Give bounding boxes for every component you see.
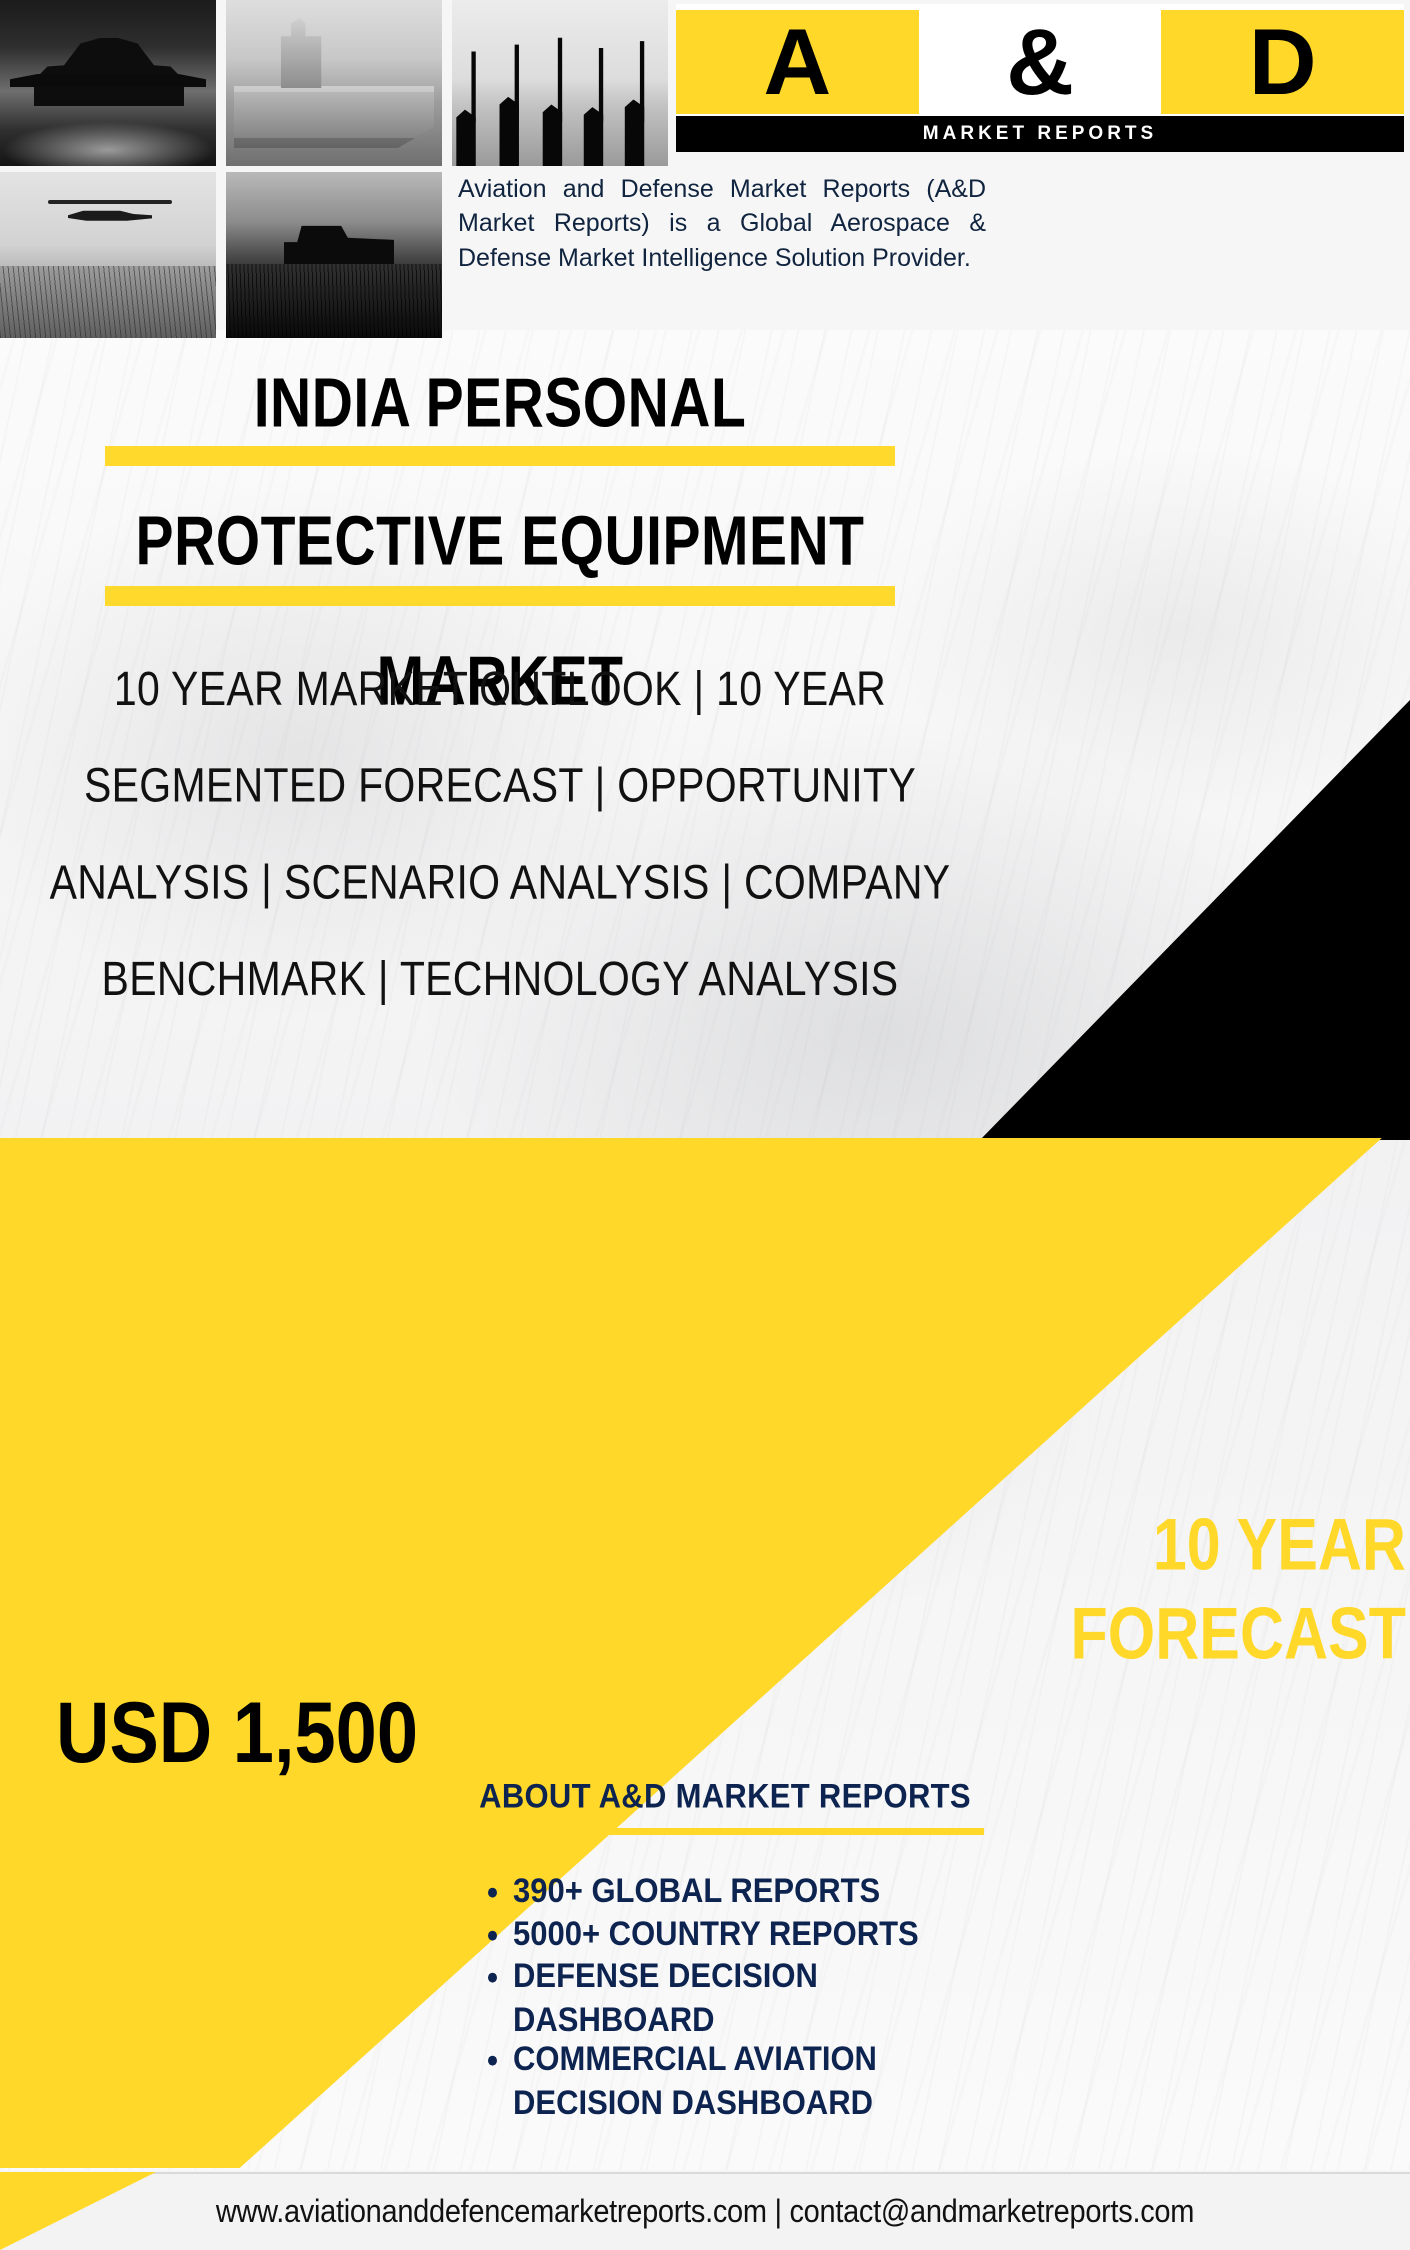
soldiers-silhouette-photo (452, 0, 668, 166)
field-foreground (0, 266, 216, 338)
logo-tagline-bar: MARKET REPORTS (676, 116, 1404, 152)
about-bullet-country-reports: 5000+ COUNTRY REPORTS (513, 1912, 995, 1956)
logo-letter-d: D (1161, 10, 1404, 114)
intro-paragraph: Aviation and Defense Market Reports (A&D… (458, 172, 986, 275)
report-scope-description: 10 YEAR MARKET OUTLOOK | 10 YEAR SEGMENT… (14, 640, 986, 1027)
about-bullet-commercial-dashboard: COMMERCIAL AVIATION DECISION DASHBOARD (513, 2037, 995, 2124)
footer-contact-text: www.aviationanddefencemarketreports.com … (216, 2194, 1194, 2231)
company-logo: A & D MARKET REPORTS (676, 4, 1404, 152)
forecast-badge-line-1: 10 YEAR (766, 1500, 1406, 1589)
helicopter-photo (0, 172, 216, 338)
title-line-2: PROTECTIVE EQUIPMENT (0, 506, 1000, 577)
logo-letter-a: A (676, 10, 919, 114)
about-bullet-defense-dashboard: DEFENSE DECISION DASHBOARD (513, 1954, 995, 2041)
price-label: USD 1,500 (56, 1690, 418, 1776)
title-rule-1 (105, 446, 895, 466)
forecast-badge-line-2: FORECAST (766, 1589, 1406, 1678)
fighter-jet-photo (0, 0, 216, 166)
about-heading: ABOUT A&D MARKET REPORTS (455, 1776, 995, 1816)
title-rule-2 (105, 586, 895, 606)
title-line-1: INDIA PERSONAL (0, 368, 1000, 439)
aircraft-carrier-photo (226, 0, 442, 166)
armored-vehicle-photo (226, 172, 442, 338)
about-underline (466, 1828, 984, 1835)
report-brochure-poster: A & D MARKET REPORTS Aviation and Defens… (0, 0, 1410, 2250)
logo-letter-ampersand: & (919, 10, 1162, 114)
about-section: ABOUT A&D MARKET REPORTS 390+ GLOBAL REP… (455, 1776, 995, 2119)
logo-letters: A & D (676, 10, 1404, 114)
forecast-badge: 10 YEAR FORECAST (766, 1500, 1406, 1679)
about-bullet-global-reports: 390+ GLOBAL REPORTS (513, 1869, 995, 1913)
about-bullet-list: 390+ GLOBAL REPORTS 5000+ COUNTRY REPORT… (455, 1869, 995, 2116)
logo-tagline: MARKET REPORTS (923, 123, 1157, 145)
footer-bar: www.aviationanddefencemarketreports.com … (0, 2172, 1410, 2250)
